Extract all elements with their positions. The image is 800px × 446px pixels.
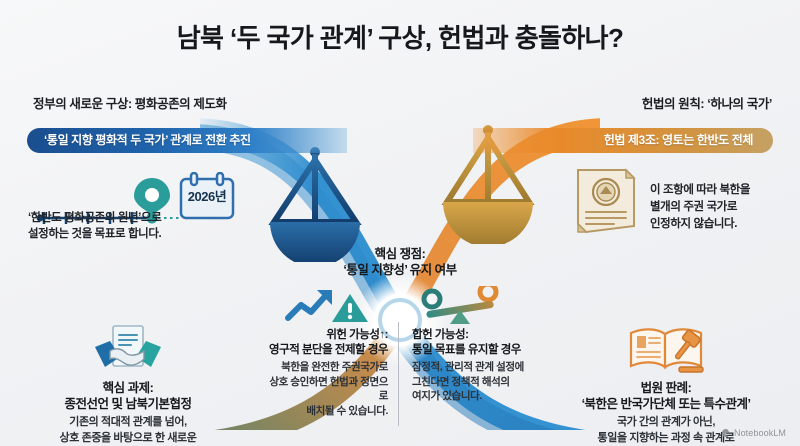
left-block-body: 기존의 적대적 관계를 넘어, 상호 존중을 바탕으로 한 새로운 관계를 설정… [14, 415, 242, 446]
seesaw-balance-icon [412, 286, 538, 326]
core-issue-line1: 핵심 쟁점: [300, 246, 500, 262]
watermark: NotebookLM [721, 428, 786, 438]
calendar-year-label: 2026년 [178, 186, 236, 205]
column-title: 위헌 가능성↑: 영구적 분단을 전제할 경우 [262, 328, 388, 358]
column-title-line2: 통일 목표를 유지할 경우 [412, 343, 538, 358]
right-banner: 헌법 제3조: 영토는 한반도 전체 [473, 128, 773, 153]
column-title-line1: 위헌 가능성↑: [262, 328, 388, 343]
column-body-line1: 북한을 완전한 주권국가로 [262, 360, 388, 375]
right-section-header: 헌법의 원칙: ‘하나의 국가’ [642, 93, 772, 112]
right-block-title-line2: ‘북한은 반국가단체 또는 특수관계’ [542, 396, 790, 412]
scroll-caption-line2: 별개의 주권 국가로 [650, 199, 790, 216]
scroll-caption: 이 조항에 따라 북한을 별개의 주권 국가로 인정하지 않습니다. [650, 182, 790, 233]
column-divider [398, 322, 399, 426]
column-constitutional: 합헌 가능성: 통일 목표를 유지할 경우 잠정적, 관리적 관계 설정에 그친… [412, 286, 538, 404]
right-block-title: 법원 판례: ‘북한은 반국가단체 또는 특수관계’ [542, 380, 790, 412]
column-body: 북한을 완전한 주권국가로 상호 승인하면 헌법과 정면으로 배치될 수 있습니… [262, 360, 388, 418]
scroll-document-icon [566, 164, 644, 238]
watermark-label: NotebookLM [734, 428, 786, 438]
trend-up-warning-icon [262, 286, 388, 326]
center-columns: 위헌 가능성↑: 영구적 분단을 전제할 경우 북한을 완전한 주권국가로 상호… [262, 286, 538, 431]
column-title: 합헌 가능성: 통일 목표를 유지할 경우 [412, 328, 538, 358]
notebooklm-logo-icon [721, 428, 731, 438]
left-block-title: 핵심 과제: 종전선언 및 남북기본협정 [14, 380, 242, 412]
column-body-line3: 배치될 수 있습니다. [262, 404, 388, 419]
left-block-title-line1: 핵심 과제: [14, 380, 242, 396]
core-issue-line2: ‘통일 지향성’ 유지 여부 [300, 262, 500, 278]
handshake-document-icon [94, 325, 162, 375]
timeline-caption: ‘한반도 평화공존의 원년’으로 설정하는 것을 목표로 합니다. [28, 210, 253, 242]
left-block-title-line2: 종전선언 및 남북기본협정 [14, 396, 242, 412]
book-gavel-icon [627, 325, 705, 375]
core-issue: 핵심 쟁점: ‘통일 지향성’ 유지 여부 [300, 246, 500, 278]
infographic-canvas: 남북 ‘두 국가 관계’ 구상, 헌법과 충돌하나? [0, 0, 800, 446]
timeline-caption-line1: ‘한반도 평화공존의 원년’으로 [28, 210, 253, 226]
column-body: 잠정적, 관리적 관계 설정에 그친다면 정책적 해석의 여지가 있습니다. [412, 360, 538, 404]
column-body-line2: 상호 승인하면 헌법과 정면으로 [262, 375, 388, 404]
left-bottom-block: 핵심 과제: 종전선언 및 남북기본협정 기존의 적대적 관계를 넘어, 상호 … [14, 325, 242, 446]
column-body-line3: 여지가 있습니다. [412, 389, 538, 404]
right-block-title-line1: 법원 판례: [542, 380, 790, 396]
column-body-line1: 잠정적, 관리적 관계 설정에 [412, 360, 538, 375]
scroll-caption-line1: 이 조항에 따라 북한을 [650, 182, 790, 199]
left-banner: ‘통일 지향 평화적 두 국가’ 관계로 전환 추진 [27, 128, 347, 153]
location-pin-icon [134, 178, 170, 214]
left-section-header: 정부의 새로운 구상: 평화공존의 제도화 [33, 93, 227, 112]
column-body-line2: 그친다면 정책적 해석의 [412, 375, 538, 390]
justice-scale-blue-icon [260, 142, 370, 262]
page-title: 남북 ‘두 국가 관계’ 구상, 헌법과 충돌하나? [0, 18, 800, 55]
left-block-body-line1: 기존의 적대적 관계를 넘어, [14, 415, 242, 431]
scroll-caption-line3: 인정하지 않습니다. [650, 216, 790, 233]
column-title-line2: 영구적 분단을 전제할 경우 [262, 343, 388, 358]
column-unconstitutional: 위헌 가능성↑: 영구적 분단을 전제할 경우 북한을 완전한 주권국가로 상호… [262, 286, 388, 418]
column-title-line1: 합헌 가능성: [412, 328, 538, 343]
left-block-body-line2: 상호 존중을 바탕으로 한 새로운 [14, 431, 242, 446]
timeline-caption-line2: 설정하는 것을 목표로 합니다. [28, 226, 253, 242]
